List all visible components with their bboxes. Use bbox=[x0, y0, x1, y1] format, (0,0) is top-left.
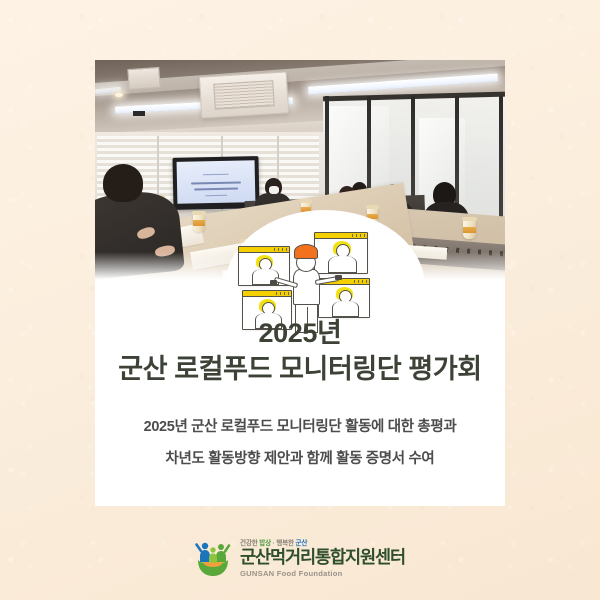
participant-head bbox=[103, 164, 143, 202]
cup-band bbox=[463, 227, 476, 233]
spotlight-icon bbox=[115, 93, 123, 97]
gunsan-food-foundation-logo-icon bbox=[195, 540, 231, 578]
face-mask-icon bbox=[269, 186, 279, 194]
title-line-1: 2025년 bbox=[95, 316, 505, 352]
poster-root: 2025년 군산 로컬푸드 모니터링단 평가회 2025년 군산 로컬푸드 모니… bbox=[0, 0, 600, 600]
cup-lid bbox=[192, 211, 206, 215]
subtitle-line-1: 2025년 군산 로컬푸드 모니터링단 활동에 대한 총평과 bbox=[95, 412, 505, 444]
slide-text-line bbox=[191, 181, 241, 184]
logo-text-group: 건강한 밥상 · 행복한 군산 군산먹거리통합지원센터 GUNSAN Food … bbox=[240, 541, 405, 578]
window-controls-icon bbox=[352, 234, 365, 237]
cup-lid bbox=[300, 199, 312, 203]
tagline-part-5: 군산 bbox=[296, 540, 308, 547]
cup-band bbox=[193, 220, 205, 225]
slide-text-line bbox=[205, 195, 227, 196]
air-conditioner-icon bbox=[199, 71, 289, 118]
slide-text-line bbox=[203, 174, 230, 176]
organization-name-en: GUNSAN Food Foundation bbox=[240, 570, 405, 578]
avatar-body bbox=[328, 256, 357, 273]
tagline-part-2: 밥상 bbox=[259, 540, 271, 547]
organization-name-ko: 군산먹거리통합지원센터 bbox=[240, 549, 405, 567]
ceiling-vent-icon bbox=[127, 67, 160, 90]
subtitle-line-2: 차년도 활동방향 제안과 함께 활동 증명서 수여 bbox=[95, 444, 505, 476]
footer-logo: 건강한 밥상 · 행복한 군산 군산먹거리통합지원센터 GUNSAN Food … bbox=[0, 540, 600, 578]
monitor-stand bbox=[133, 111, 145, 116]
presenter-hat-icon bbox=[294, 244, 318, 259]
avatar-body bbox=[332, 301, 359, 317]
tagline-part-1: 건강한 bbox=[240, 540, 258, 547]
tagline-separator: · bbox=[273, 540, 275, 547]
cup-lid bbox=[366, 205, 379, 209]
cup-lid bbox=[462, 217, 477, 221]
subtitle-block: 2025년 군산 로컬푸드 모니터링단 활동에 대한 총평과 차년도 활동방향 … bbox=[95, 412, 505, 476]
remote-control-icon bbox=[270, 280, 277, 285]
title-block: 2025년 군산 로컬푸드 모니터링단 평가회 bbox=[95, 316, 505, 387]
tagline-part-4: 행복한 bbox=[276, 540, 294, 547]
ac-vent bbox=[213, 80, 274, 110]
window-controls-icon bbox=[354, 280, 367, 283]
coffee-cup-icon bbox=[193, 214, 205, 232]
remote-control-icon bbox=[335, 275, 342, 280]
content-card: 2025년 군산 로컬푸드 모니터링단 평가회 2025년 군산 로컬푸드 모니… bbox=[95, 60, 505, 506]
logo-tagline: 건강한 밥상 · 행복한 군산 bbox=[240, 541, 405, 548]
coffee-cup-icon bbox=[463, 220, 476, 239]
slide-text-line bbox=[194, 188, 238, 191]
monitor-screen bbox=[177, 160, 256, 204]
title-line-2: 군산 로컬푸드 모니터링단 평가회 bbox=[95, 352, 505, 388]
video-window-titlebar bbox=[239, 247, 289, 253]
video-window-titlebar bbox=[315, 233, 367, 239]
